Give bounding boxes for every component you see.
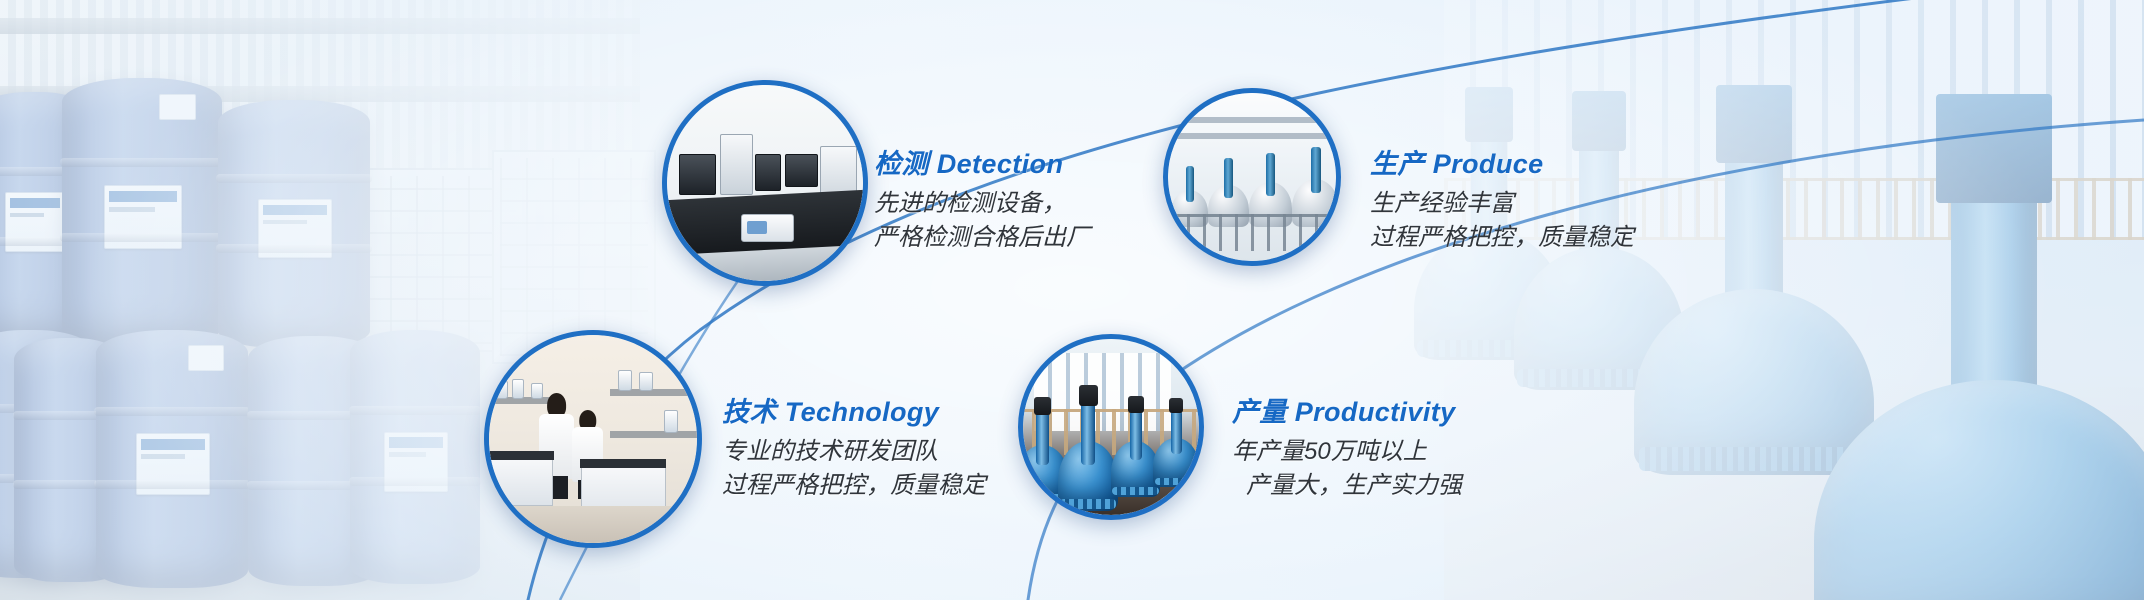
tank-agitator	[1186, 166, 1193, 201]
reactor-bolt-ring	[1112, 487, 1158, 495]
roof-beam	[1168, 133, 1336, 139]
reagent-shelf	[610, 431, 697, 438]
node-detection-photo[interactable]	[662, 80, 868, 286]
detection-line-2: 严格检测合格后出厂	[874, 221, 1090, 255]
tank-agitator	[1311, 147, 1320, 193]
reagent-bottle	[512, 379, 524, 400]
lab-cabinet	[720, 134, 753, 195]
block-technology: 技术 Technology 专业的技术研发团队 过程严格把控，质量稳定	[722, 396, 986, 504]
reactor-motor	[1079, 385, 1098, 406]
lab-instrument	[755, 154, 781, 191]
block-detection: 检测 Detection 先进的检测设备， 严格检测合格后出厂	[874, 148, 1090, 256]
lab-bench-cabinet	[489, 458, 553, 506]
productivity-line-1: 年产量50万吨以上	[1232, 435, 1462, 469]
productivity-heading: 产量 Productivity	[1232, 396, 1462, 428]
reactor-column	[1130, 410, 1142, 461]
lab-monitor	[785, 154, 818, 187]
technology-photo-inner	[489, 335, 697, 543]
company-strength-banner: 检测 Detection 先进的检测设备， 严格检测合格后出厂 生产 Produ…	[0, 0, 2144, 600]
detection-heading: 检测 Detection	[874, 148, 1090, 180]
reactor-column	[1081, 402, 1095, 465]
produce-photo-inner	[1168, 93, 1336, 261]
node-produce-photo[interactable]	[1163, 88, 1341, 266]
block-productivity: 产量 Productivity 年产量50万吨以上 产量大，生产实力强	[1232, 396, 1462, 504]
tank-agitator	[1224, 158, 1232, 198]
bench-countertop	[580, 459, 667, 468]
technology-line-2: 过程严格把控，质量稳定	[722, 469, 986, 503]
node-technology-photo[interactable]	[484, 330, 702, 548]
reagent-bottle	[664, 410, 678, 433]
lab-microscope	[679, 154, 716, 195]
produce-line-1: 生产经验丰富	[1370, 187, 1634, 221]
detection-line-1: 先进的检测设备，	[874, 187, 1090, 221]
reagent-bottle	[618, 370, 632, 391]
detection-photo-inner	[667, 85, 863, 281]
reactor-motor	[1169, 398, 1184, 413]
reagent-bottle	[639, 372, 653, 391]
reactor-motor	[1128, 396, 1144, 413]
tank-agitator	[1266, 153, 1275, 196]
productivity-photo-inner	[1023, 339, 1199, 515]
reagent-bottle	[495, 381, 507, 400]
node-productivity-photo[interactable]	[1018, 334, 1204, 520]
block-produce: 生产 Produce 生产经验丰富 过程严格把控，质量稳定	[1370, 148, 1634, 256]
roof-beam	[1168, 117, 1336, 123]
produce-heading: 生产 Produce	[1370, 148, 1634, 180]
technology-line-1: 专业的技术研发团队	[722, 435, 986, 469]
lab-balance	[741, 214, 794, 241]
reactor-bolt-ring	[1060, 499, 1116, 509]
reactor-motor	[1034, 397, 1051, 415]
reactor-column	[1171, 410, 1182, 454]
produce-line-2: 过程严格把控，质量稳定	[1370, 221, 1634, 255]
technology-heading: 技术 Technology	[722, 396, 986, 428]
reactor-bolt-ring	[1155, 478, 1198, 485]
laboratory-floor	[489, 506, 697, 543]
productivity-line-2: 产量大，生产实力强	[1232, 469, 1462, 503]
reactor-column	[1036, 411, 1049, 465]
workshop-railing	[1168, 214, 1336, 251]
bench-countertop	[489, 451, 554, 460]
